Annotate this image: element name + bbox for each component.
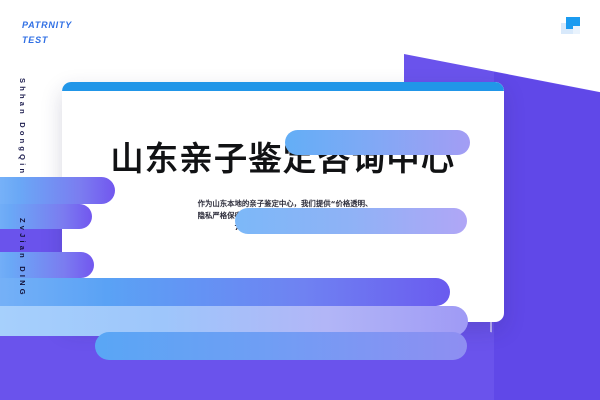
content-card: 山东亲子鉴定咨询中心 作为山东本地的亲子鉴定中心，我们提供“价格透明、 隐私严格…: [62, 82, 504, 322]
slide-canvas: 山东亲子鉴定咨询中心 作为山东本地的亲子鉴定中心，我们提供“价格透明、 隐私严格…: [0, 0, 600, 400]
logo-mark-icon: [561, 17, 581, 35]
description-line-1: 作为山东本地的亲子鉴定中心，我们提供“价格透明、: [170, 198, 400, 210]
card-body: 山东亲子鉴定咨询中心 作为山东本地的亲子鉴定中心，我们提供“价格透明、 隐私严格…: [62, 82, 504, 322]
vertical-brand-rail-2: ZvJian DING: [18, 218, 36, 400]
vertical-rail-line-2: ZvJian DING: [18, 218, 27, 298]
description-line-3: 7个工作日出，并提供加急通道: [170, 222, 400, 234]
page-title: 山东亲子鉴定咨询中心: [62, 132, 504, 180]
description-paragraph: 作为山东本地的亲子鉴定中心，我们提供“价格透明、 隐私严格保密”的一站式服务。支…: [170, 198, 400, 235]
logo-mark-shape-c: [573, 26, 580, 34]
brand-kicker-text: PATRNITY TEST: [22, 18, 72, 48]
description-line-2: 隐私严格保密”的一站式服务。支持到店或上门采样，: [170, 210, 400, 222]
background-shape-purple-right-inner: [494, 72, 600, 400]
vertical-rail-line-1: Shhan DongQin: [18, 78, 27, 176]
